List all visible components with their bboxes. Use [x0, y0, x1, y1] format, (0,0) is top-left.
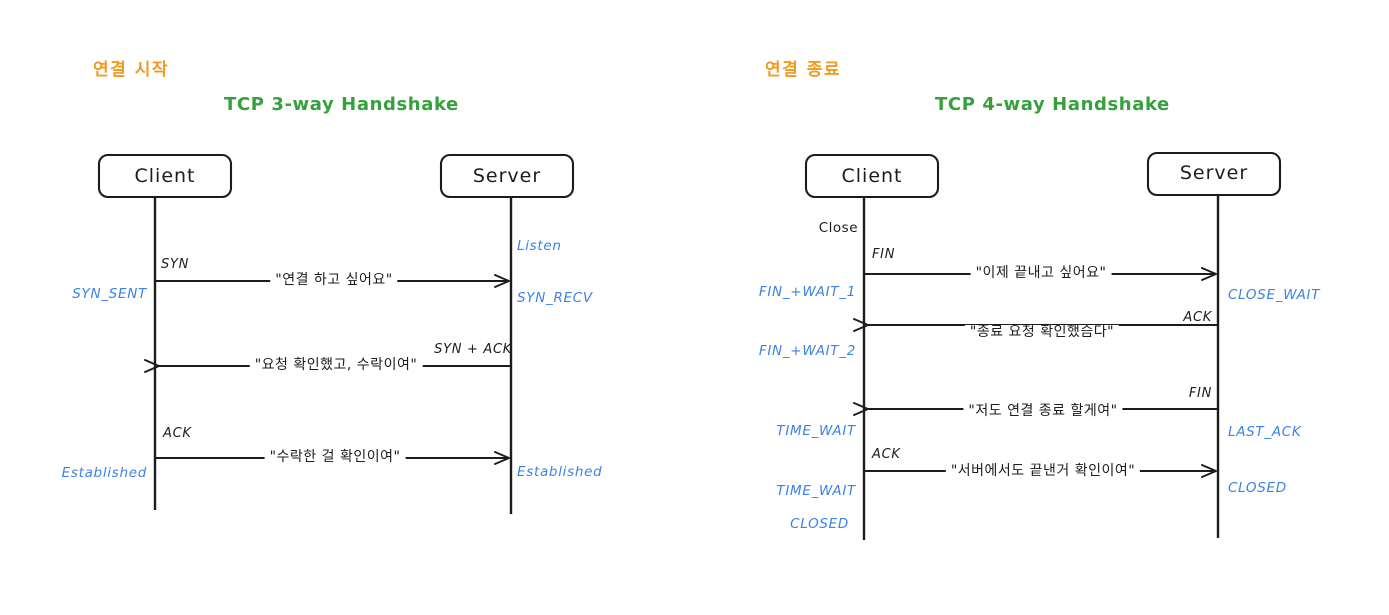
flag-label-syn: SYN: [161, 258, 189, 271]
message-text-3: "저도 연결 종료 할게여": [963, 404, 1122, 418]
state-label-server-listen: Listen: [517, 240, 562, 254]
state-label-client-time-wait-1: TIME_WAIT: [776, 425, 856, 439]
flag-label-ack-2: ACK: [872, 448, 901, 461]
flag-label-fin-1: FIN: [872, 248, 895, 261]
message-text-1: "연결 하고 싶어요": [270, 273, 397, 287]
section-title-close: 연결 종료: [765, 62, 841, 79]
message-text-2: "종료 요청 확인했슴다": [965, 325, 1119, 339]
state-label-client-established: Established: [62, 467, 147, 481]
message-text-2: "요청 확인했고, 수락이여": [250, 358, 423, 372]
flag-label-ack-1: ACK: [1183, 311, 1212, 324]
flag-label-ack: ACK: [163, 427, 192, 440]
diagram-canvas: [0, 0, 1389, 615]
participant-label-client: Client: [841, 167, 902, 186]
state-label-server-close-wait: CLOSE_WAIT: [1228, 289, 1320, 303]
state-label-client-fin-wait-2: FIN_+WAIT_2: [759, 345, 856, 359]
diagram-close: [806, 153, 1280, 540]
state-label-client-syn-sent: SYN_SENT: [72, 288, 147, 302]
state-label-server-established: Established: [517, 466, 602, 480]
state-label-server-last-ack: LAST_ACK: [1228, 426, 1301, 440]
message-text-3: "수락한 걸 확인이여": [265, 450, 406, 464]
state-label-server-closed: CLOSED: [1228, 482, 1287, 496]
flag-label-fin-2: FIN: [1189, 387, 1212, 400]
subtitle-open: TCP 3-way Handshake: [224, 96, 459, 114]
participant-label-server: Server: [473, 167, 541, 186]
state-label-client-fin-wait-1: FIN_+WAIT_1: [759, 286, 856, 300]
message-text-4: "서버에서도 끝낸거 확인이여": [946, 464, 1140, 478]
section-title-open: 연결 시작: [93, 62, 169, 79]
subtitle-close: TCP 4-way Handshake: [935, 96, 1170, 114]
participant-label-server: Server: [1180, 164, 1248, 183]
event-label-close: Close: [819, 222, 858, 236]
state-label-server-syn-recv: SYN_RECV: [517, 292, 593, 306]
participant-label-client: Client: [134, 167, 195, 186]
message-text-1: "이제 끝내고 싶어요": [971, 266, 1112, 280]
flag-label-syn-ack: SYN + ACK: [434, 343, 512, 356]
state-label-client-closed: CLOSED: [790, 518, 849, 532]
state-label-client-time-wait-2: TIME_WAIT: [776, 485, 856, 499]
